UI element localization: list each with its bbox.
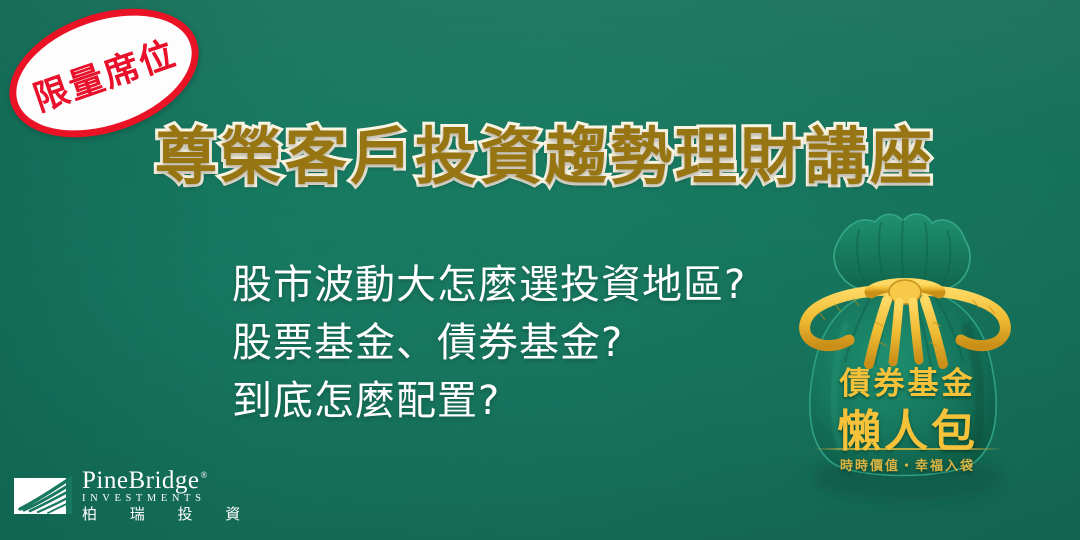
subtitle-line-1: 股市波動大怎麼選投資地區?: [232, 256, 792, 314]
page-title: 尊榮客戶投資趨勢理財講座: [155, 126, 935, 188]
drawstring-pouch-graphic: 債券基金 懶人包 時時價值・幸福入袋: [775, 212, 1040, 512]
logo-tagline: INVESTMENTS: [82, 494, 254, 505]
logo-trademark: ®: [201, 470, 208, 480]
logo-brand-name: PineBridge®: [82, 468, 254, 493]
pinebridge-bridge-mark-icon: [14, 476, 72, 516]
pinebridge-logo: PineBridge® INVESTMENTS 柏 瑞 投 資: [14, 468, 254, 524]
pouch-divider: [813, 448, 1002, 450]
subtitle-block: 股市波動大怎麼選投資地區? 股票基金、債券基金? 到底怎麼配置?: [232, 256, 792, 430]
seminar-banner: 限量席位 尊榮客戶投資趨勢理財講座 股市波動大怎麼選投資地區? 股票基金、債券基…: [0, 0, 1080, 540]
subtitle-line-2: 股票基金、債券基金?: [232, 314, 792, 372]
logo-chinese-name: 柏 瑞 投 資: [82, 505, 254, 524]
logo-wordmark: PineBridge® INVESTMENTS 柏 瑞 投 資: [82, 468, 254, 524]
subtitle-line-3: 到底怎麼配置?: [232, 372, 792, 430]
logo-brand-text: PineBridge: [82, 467, 200, 494]
drawstring-pouch-icon: [775, 212, 1040, 512]
